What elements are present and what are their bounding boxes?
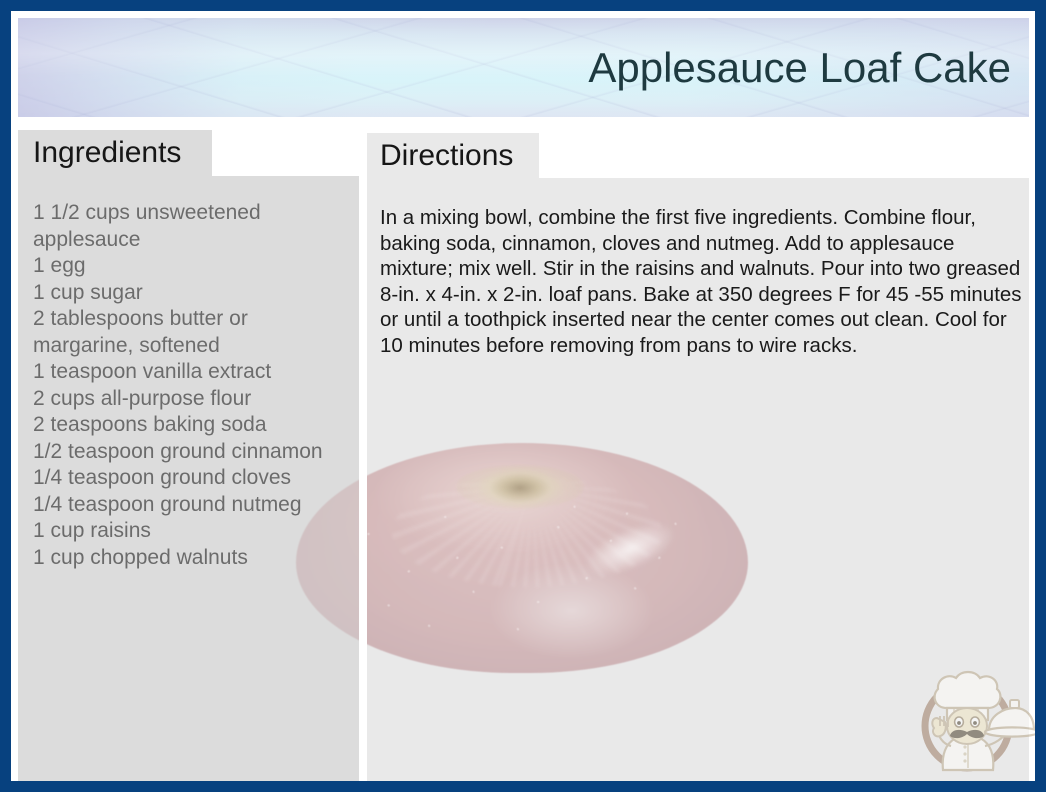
column-gutter-divider <box>359 176 367 781</box>
ingredient-item: 2 teaspoons baking soda <box>33 412 353 439</box>
ingredient-item: 1 1/2 cups unsweetened applesauce <box>33 200 353 253</box>
directions-tab-label: Directions <box>380 141 513 171</box>
chef-logo-icon <box>907 652 1035 780</box>
ingredient-item: 1 teaspoon vanilla extract <box>33 359 353 386</box>
ingredient-item: 1 cup raisins <box>33 518 353 545</box>
slide-content-area: Applesauce Loaf Cake Ingredients 1 1/2 c… <box>11 11 1035 781</box>
ingredients-list: 1 1/2 cups unsweetened applesauce1 egg1 … <box>33 200 353 571</box>
ingredient-item: 1/4 teaspoon ground cloves <box>33 465 353 492</box>
ingredient-item: 1/4 teaspoon ground nutmeg <box>33 492 353 519</box>
ingredient-item: 1 cup chopped walnuts <box>33 545 353 572</box>
title-banner: Applesauce Loaf Cake <box>18 18 1029 117</box>
ingredient-item: 2 tablespoons butter or margarine, softe… <box>33 306 353 359</box>
page-title: Applesauce Loaf Cake <box>588 45 1011 89</box>
ingredients-tab-label: Ingredients <box>33 138 181 168</box>
recipe-slide: Applesauce Loaf Cake Ingredients 1 1/2 c… <box>0 0 1046 792</box>
directions-body-text: In a mixing bowl, combine the first five… <box>380 205 1022 358</box>
ingredient-item: 1 cup sugar <box>33 280 353 307</box>
ingredients-tab: Ingredients <box>18 130 212 176</box>
ingredient-item: 2 cups all-purpose flour <box>33 386 353 413</box>
ingredient-item: 1/2 teaspoon ground cinnamon <box>33 439 353 466</box>
ingredients-panel: 1 1/2 cups unsweetened applesauce1 egg1 … <box>18 176 359 781</box>
directions-tab: Directions <box>367 133 539 178</box>
ingredient-item: 1 egg <box>33 253 353 280</box>
